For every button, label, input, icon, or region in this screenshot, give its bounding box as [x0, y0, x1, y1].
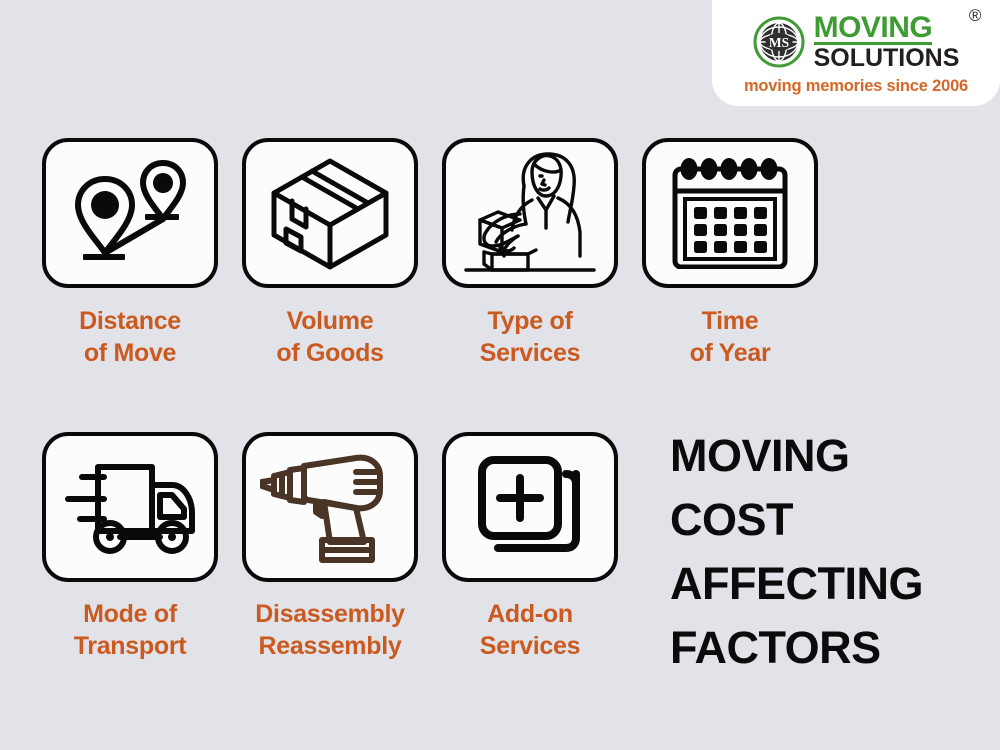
- factor-label-distance-of-move: Distance of Move: [30, 305, 230, 369]
- title-line-2: COST: [670, 488, 990, 552]
- label-line-1: Mode of: [30, 598, 230, 630]
- title-line-4: FACTORS: [670, 616, 990, 680]
- label-line-1: Distance: [30, 305, 230, 337]
- logo-wordmark: MOVING SOLUTIONS ®: [814, 14, 960, 71]
- label-line-2: of Goods: [230, 337, 430, 369]
- label-line-2: Reassembly: [230, 630, 430, 662]
- factor-label-type-of-services: Type of Services: [430, 305, 630, 369]
- person-packing-box-icon: [462, 152, 598, 274]
- label-line-2: Services: [430, 337, 630, 369]
- globe-monogram-text: MS: [768, 35, 788, 50]
- calendar-icon: [672, 157, 788, 269]
- label-line-1: Type of: [430, 305, 630, 337]
- factor-label-volume-of-goods: Volume of Goods: [230, 305, 430, 369]
- logo-brand-line2: SOLUTIONS: [814, 47, 960, 70]
- label-line-2: Transport: [30, 630, 230, 662]
- label-line-1: Time: [630, 305, 830, 337]
- cardboard-box-icon: [268, 155, 392, 271]
- factor-label-mode-of-transport: Mode of Transport: [30, 598, 230, 662]
- registered-trademark-icon: ®: [969, 8, 982, 24]
- label-line-2: of Move: [30, 337, 230, 369]
- title-line-3: AFFECTING: [670, 552, 990, 616]
- label-line-1: Volume: [230, 305, 430, 337]
- label-line-1: Add-on: [430, 598, 630, 630]
- factor-label-time-of-year: Time of Year: [630, 305, 830, 369]
- factor-card-disassembly-reassembly[interactable]: [242, 432, 418, 582]
- title-line-1: MOVING: [670, 424, 990, 488]
- add-layer-plus-icon: [474, 452, 586, 562]
- globe-icon: MS: [753, 16, 805, 68]
- factor-card-mode-of-transport[interactable]: [42, 432, 218, 582]
- map-pins-route-icon: [67, 157, 193, 269]
- factor-card-time-of-year[interactable]: [642, 138, 818, 288]
- logo-lockup: MS MOVING SOLUTIONS ®: [753, 14, 960, 71]
- factor-label-add-on-services: Add-on Services: [430, 598, 630, 662]
- factor-card-type-of-services[interactable]: [442, 138, 618, 288]
- label-line-1: Disassembly: [230, 598, 430, 630]
- logo-brand-line1: MOVING: [814, 14, 933, 46]
- factor-label-disassembly-reassembly: Disassembly Reassembly: [230, 598, 430, 662]
- logo-panel: MS MOVING SOLUTIONS ® moving memories si…: [712, 0, 1000, 106]
- label-line-2: of Year: [630, 337, 830, 369]
- logo-tagline: moving memories since 2006: [744, 77, 968, 96]
- label-line-2: Services: [430, 630, 630, 662]
- power-drill-icon: [260, 450, 400, 564]
- factor-card-distance-of-move[interactable]: [42, 138, 218, 288]
- page-title: MOVING COST AFFECTING FACTORS: [670, 424, 990, 680]
- factor-card-volume-of-goods[interactable]: [242, 138, 418, 288]
- delivery-truck-icon: [60, 455, 200, 559]
- factor-card-add-on-services[interactable]: [442, 432, 618, 582]
